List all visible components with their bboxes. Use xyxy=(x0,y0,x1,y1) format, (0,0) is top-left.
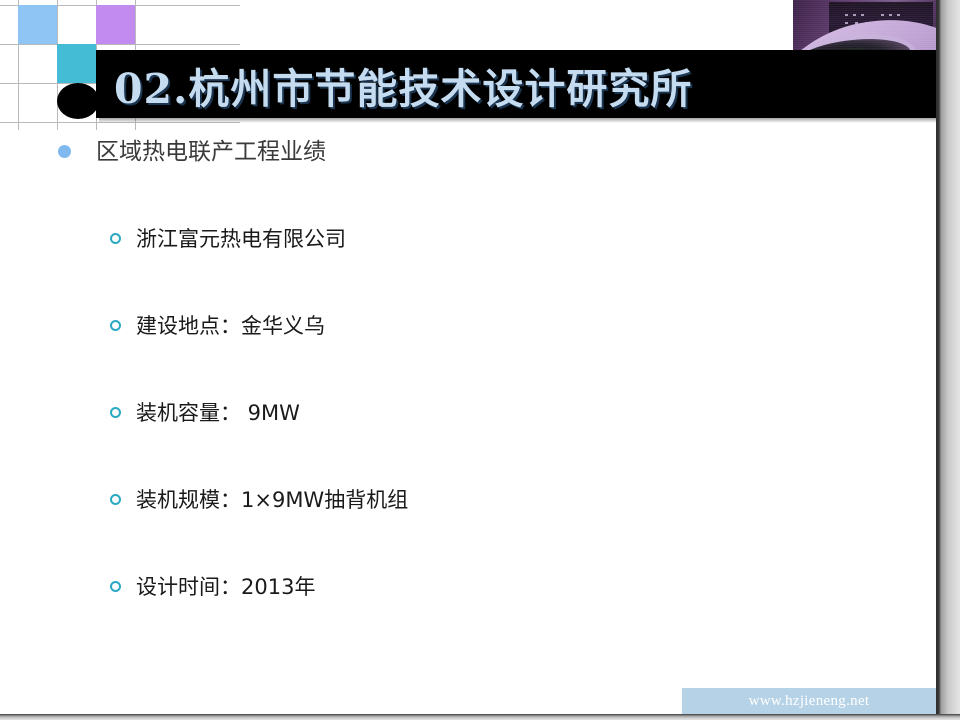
bullet-item-level2: 设计时间：2013年 xyxy=(0,572,936,659)
bullet-hollow-circle-icon xyxy=(110,581,121,592)
bullet-label: 设计时间：2013年 xyxy=(136,572,315,602)
bullet-hollow-circle-icon xyxy=(110,233,121,244)
bullet-hollow-circle-icon xyxy=(110,320,121,331)
bullet-filled-circle-icon xyxy=(58,145,71,158)
slide-content: 区域热电联产工程业绩 浙江富元热电有限公司 建设地点：金华义乌 装机容量： 9M… xyxy=(0,134,936,659)
bullet-item-level1: 区域热电联产工程业绩 xyxy=(0,134,936,178)
decor-square-purple xyxy=(96,5,135,44)
grid-line-horizontal xyxy=(0,44,240,45)
bullet-label: 装机容量： 9MW xyxy=(136,398,300,428)
bullet-hollow-circle-icon xyxy=(110,494,121,505)
footer-url-text: www.hzjieneng.net xyxy=(682,688,936,714)
page-title: 02.杭州市节能技术设计研究所 xyxy=(114,60,914,118)
presentation-slide: 02.杭州市节能技术设计研究所 区域热电联产工程业绩 浙江富元热电有限公司 建设… xyxy=(0,0,960,720)
footer-url-bar: www.hzjieneng.net xyxy=(682,688,936,714)
decor-ellipse xyxy=(57,83,99,119)
bullet-label: 浙江富元热电有限公司 xyxy=(136,224,346,254)
bullet-label: 区域热电联产工程业绩 xyxy=(96,134,326,170)
bullet-label: 装机规模：1×9MW抽背机组 xyxy=(136,485,408,515)
bullet-item-level2: 装机规模：1×9MW抽背机组 xyxy=(0,485,936,572)
title-bar-shadow xyxy=(99,118,939,123)
slide-edge-shadow-right xyxy=(936,0,960,720)
bullet-item-level2: 装机容量： 9MW xyxy=(0,398,936,485)
decor-square-blue xyxy=(18,5,57,44)
decor-square-teal xyxy=(57,44,96,83)
slide-edge-shadow-bottom xyxy=(0,714,960,720)
bullet-label: 建设地点：金华义乌 xyxy=(136,311,325,341)
bullet-hollow-circle-icon xyxy=(110,407,121,418)
bullet-item-level2: 建设地点：金华义乌 xyxy=(0,311,936,398)
bullet-item-level2: 浙江富元热电有限公司 xyxy=(0,224,936,311)
